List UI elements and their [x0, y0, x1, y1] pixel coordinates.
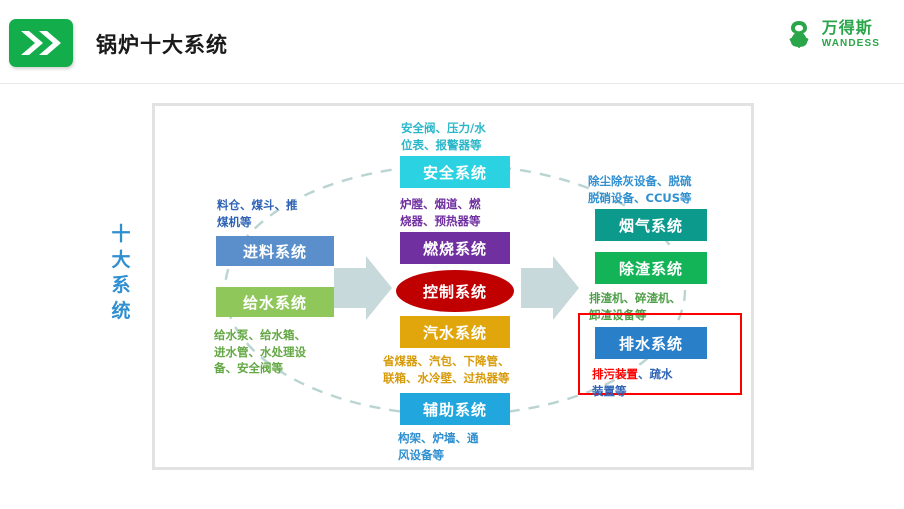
node-drainage-system[interactable]: 排水系统 — [595, 327, 707, 359]
node-feed-system[interactable]: 进料系统 — [216, 236, 334, 266]
page-title: 锅炉十大系统 — [96, 29, 228, 59]
logo-english-text: WANDESS — [822, 39, 880, 49]
side-label-ten-systems: 十 大 系 统 — [104, 222, 138, 325]
node-water-supply-system[interactable]: 给水系统 — [216, 287, 334, 317]
side-label-char-4: 统 — [104, 299, 138, 325]
node-steam-water-system[interactable]: 汽水系统 — [400, 316, 510, 348]
node-combustion-system[interactable]: 燃烧系统 — [400, 232, 510, 264]
node-flue-gas-system[interactable]: 烟气系统 — [595, 209, 707, 241]
logo-chinese-text: 万得斯 — [822, 20, 880, 36]
page-header: 锅炉十大系统 万得斯 WANDESS — [0, 0, 904, 84]
wandess-plant-logo-icon — [782, 17, 816, 51]
node-control-system[interactable]: 控制系统 — [396, 270, 514, 312]
caption-flue-gas-system: 除尘除灰设备、脱硫 脱硝设备、CCUS等 — [588, 173, 740, 206]
caption-steam-water-system: 省煤器、汽包、下降管、 联箱、水冷壁、过热器等 — [383, 353, 545, 386]
caption-combustion-system: 炉膛、烟道、燃 烧器、预热器等 — [400, 196, 522, 229]
caption-auxiliary-system: 构架、炉墙、通 风设备等 — [398, 430, 520, 463]
double-chevron-icon — [9, 19, 73, 67]
node-auxiliary-system[interactable]: 辅助系统 — [400, 393, 510, 425]
side-label-char-2: 大 — [104, 248, 138, 274]
node-slag-removal-system[interactable]: 除渣系统 — [595, 252, 707, 284]
node-safety-system[interactable]: 安全系统 — [400, 156, 510, 188]
side-label-char-3: 系 — [104, 273, 138, 299]
caption-drainage-red-part: 排污装置 — [592, 367, 638, 381]
brand-logo: 万得斯 WANDESS — [782, 14, 880, 54]
caption-drainage-system: 排污装置、疏水 装置等 — [592, 366, 738, 399]
side-label-char-1: 十 — [104, 222, 138, 248]
caption-feed-system: 料仓、煤斗、推 煤机等 — [217, 197, 337, 230]
caption-water-supply-system: 给水泵、给水箱、 进水管、水处理设 备、安全阀等 — [214, 327, 339, 377]
caption-safety-system: 安全阀、压力/水 位表、报警器等 — [401, 120, 523, 153]
header-divider — [0, 83, 904, 84]
